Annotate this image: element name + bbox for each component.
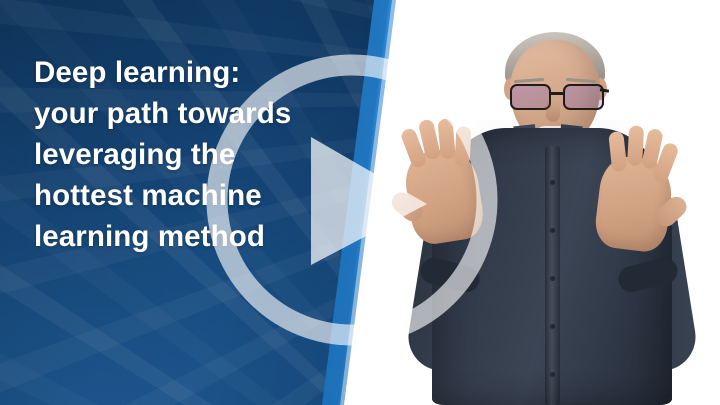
shirt-button [550,324,555,329]
video-player[interactable]: Deep learning: your path towards leverag… [0,0,720,405]
shirt-button [550,180,555,185]
glasses-lens-left [510,84,551,110]
play-triangle [311,137,427,265]
thumb [652,193,691,231]
shirt-button [550,276,555,281]
shirt-button [550,228,555,233]
glasses-lens-right [563,84,604,110]
shirt-button [550,372,555,377]
presenter-hand-right [593,154,676,254]
glasses-bridge [549,92,564,95]
play-button[interactable] [205,53,499,347]
presenter-nose [546,100,560,122]
play-icon[interactable] [205,53,499,347]
